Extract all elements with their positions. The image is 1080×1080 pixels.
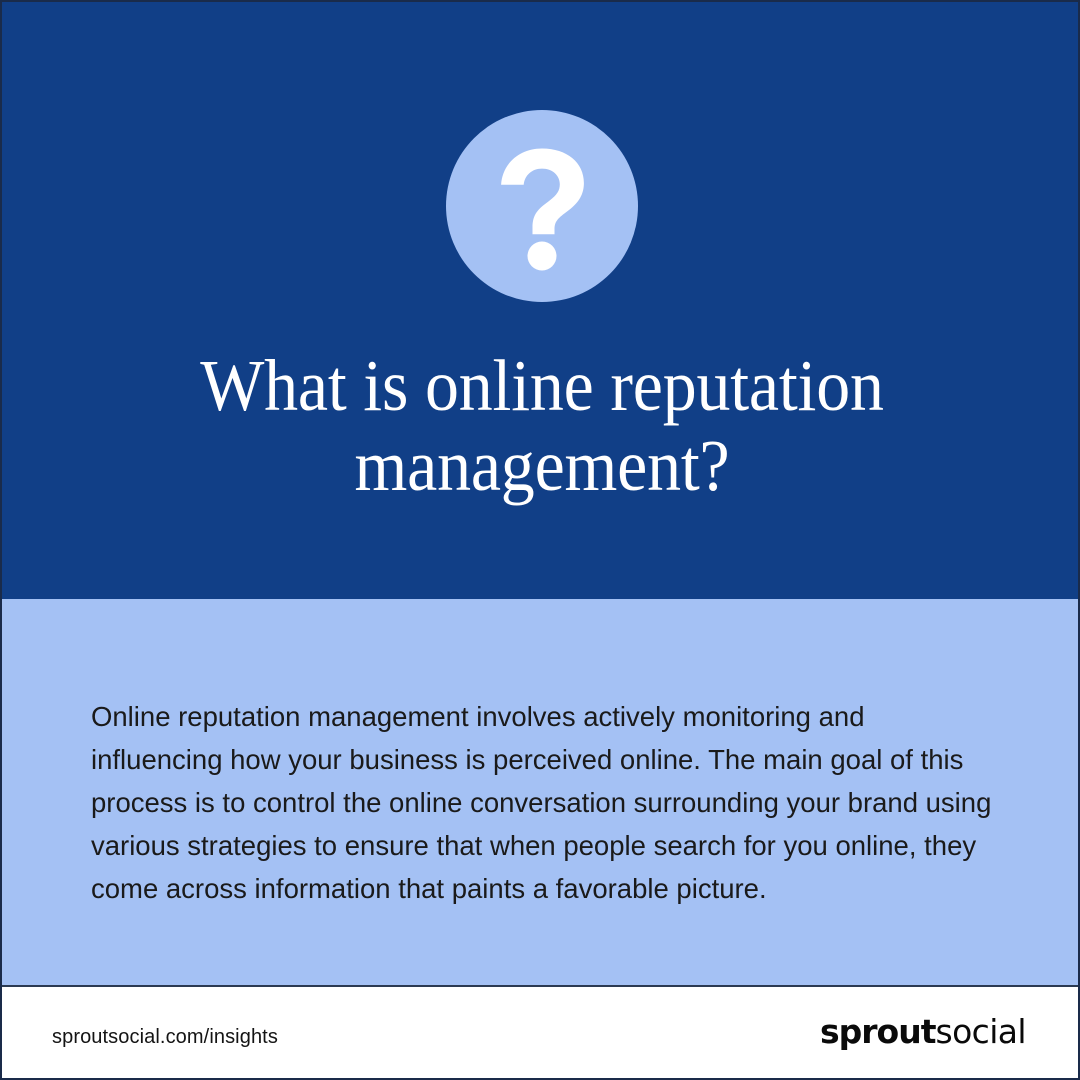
body-paragraph: Online reputation management involves ac… xyxy=(91,695,1003,910)
question-mark-badge xyxy=(446,110,638,302)
page-title: What is online reputation management? xyxy=(77,346,1007,506)
social-card: What is online reputation management? On… xyxy=(0,0,1080,1080)
footer-section: sproutsocial.com/insights sproutsocial xyxy=(2,987,1080,1080)
page-title-line-1: What is online reputation xyxy=(77,346,1007,426)
logo-word-social: social xyxy=(936,1012,1027,1051)
hero-section: What is online reputation management? xyxy=(2,2,1080,599)
icon-circle-background xyxy=(446,110,638,302)
page-title-line-2: management? xyxy=(77,426,1007,506)
logo-word-sprout: sprout xyxy=(820,1012,935,1051)
body-section: Online reputation management involves ac… xyxy=(2,599,1080,985)
footer-website-url[interactable]: sproutsocial.com/insights xyxy=(52,1025,278,1049)
question-mark-icon xyxy=(446,110,638,302)
sprout-social-logo[interactable]: sproutsocial xyxy=(820,1012,1026,1052)
